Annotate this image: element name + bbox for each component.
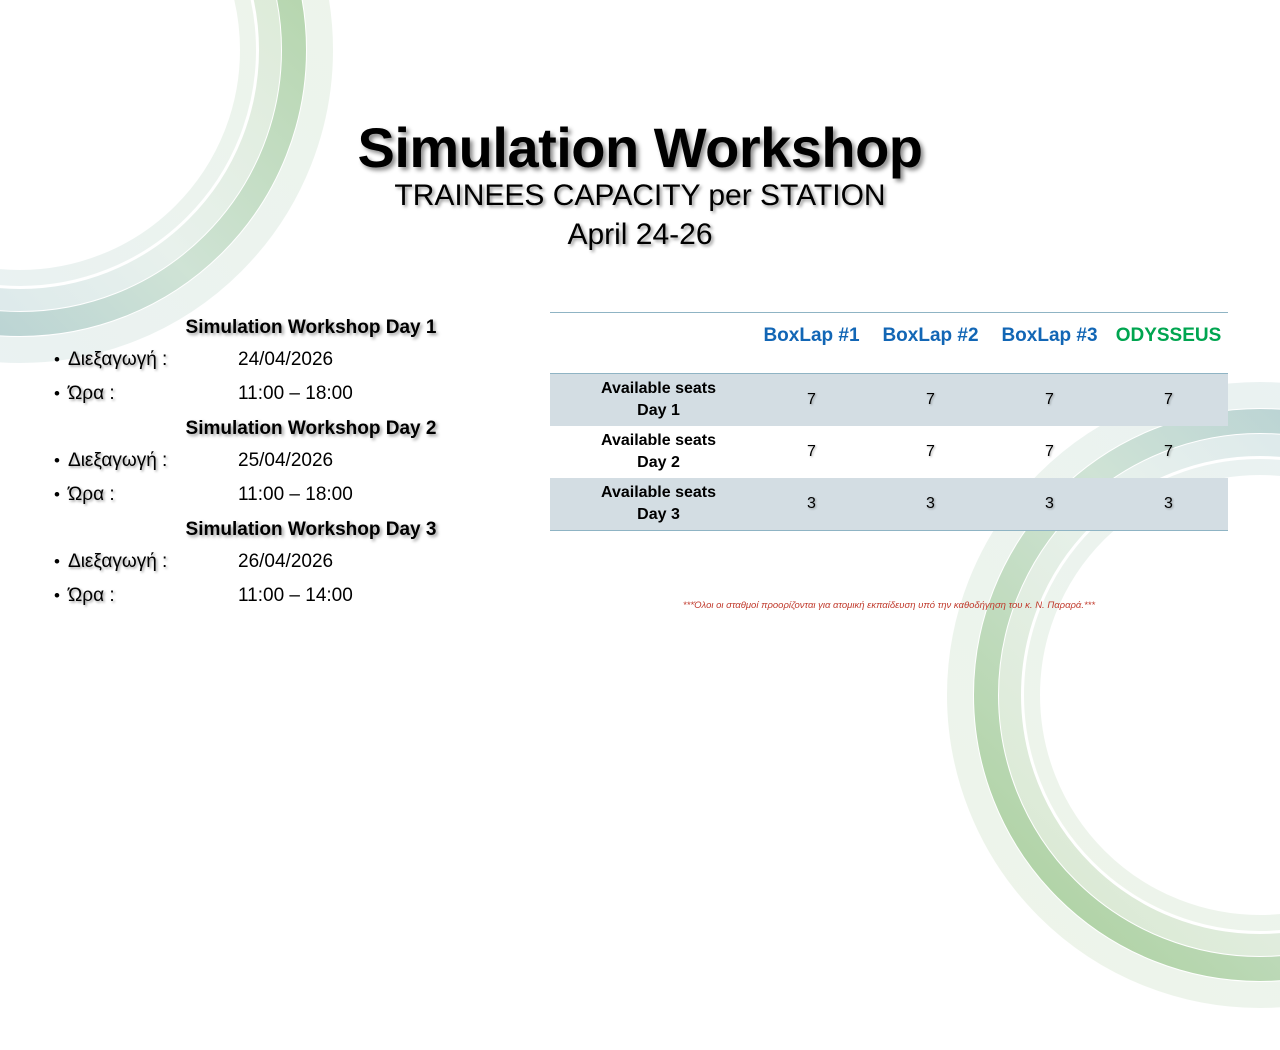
title-block: Simulation Workshop TRAINEES CAPACITY pe… — [0, 118, 1280, 254]
cell-day-3-boxlap-1: 3 — [752, 478, 871, 531]
row-label-day-3-line2: Day 3 — [566, 504, 751, 526]
cell-day-3-boxlap-3: 3 — [990, 478, 1109, 531]
day-group-2: Simulation Workshop Day 2 • Διεξαγωγή : … — [46, 413, 516, 512]
bullet-icon: • — [46, 446, 68, 476]
page-subtitle-line-2: April 24-26 — [0, 216, 1280, 254]
cell-day-3-odysseus: 3 — [1109, 478, 1228, 531]
schedule-value: 24/04/2026 — [238, 343, 516, 377]
table-row: Available seatsDay 1 7 7 7 7 — [550, 374, 1228, 427]
row-label-day-2: Available seatsDay 2 — [550, 426, 752, 478]
row-label-day-1-line2: Day 1 — [566, 400, 751, 422]
schedule-value: 25/04/2026 — [238, 444, 516, 478]
row-label-day-2-line1: Available seats — [601, 432, 716, 449]
schedule-label: Διεξαγωγή : — [68, 545, 238, 579]
row-label-day-3: Available seatsDay 3 — [550, 478, 752, 531]
table-header-row: BoxLap #1 BoxLap #2 BoxLap #3 ODYSSEUS — [550, 313, 1228, 374]
bullet-icon: • — [46, 547, 68, 577]
cell-day-3-boxlap-2: 3 — [871, 478, 990, 531]
column-header-boxlap-3: BoxLap #3 — [990, 313, 1109, 374]
schedule-value: 11:00 – 18:00 — [238, 377, 516, 411]
bullet-icon: • — [46, 379, 68, 409]
day-heading-3: Simulation Workshop Day 3 — [46, 514, 516, 545]
list-item: • Διεξαγωγή : 26/04/2026 — [46, 545, 516, 579]
day-heading-1-emph: Simulation — [186, 317, 283, 338]
list-item: • Ώρα : 11:00 – 14:00 — [46, 579, 516, 613]
day-heading-2: Simulation Workshop Day 2 — [46, 413, 516, 444]
day-group-1: Simulation Workshop Day 1 • Διεξαγωγή : … — [46, 312, 516, 411]
schedule-value: 26/04/2026 — [238, 545, 516, 579]
column-header-boxlap-1: BoxLap #1 — [752, 313, 871, 374]
schedule-label: Διεξαγωγή : — [68, 444, 238, 478]
cell-day-1-odysseus: 7 — [1109, 374, 1228, 427]
table-body: Available seatsDay 1 7 7 7 7 Available s… — [550, 374, 1228, 531]
page-title: Simulation Workshop — [0, 118, 1280, 177]
cell-day-1-boxlap-3: 7 — [990, 374, 1109, 427]
capacity-table: BoxLap #1 BoxLap #2 BoxLap #3 ODYSSEUS A… — [550, 312, 1228, 531]
table-corner-cell — [550, 313, 752, 374]
bullet-icon: • — [46, 480, 68, 510]
capacity-table-wrapper: BoxLap #1 BoxLap #2 BoxLap #3 ODYSSEUS A… — [550, 312, 1228, 531]
cell-day-2-boxlap-2: 7 — [871, 426, 990, 478]
day-heading-3-emph: Simulation — [186, 519, 283, 540]
row-label-day-1: Available seatsDay 1 — [550, 374, 752, 427]
cell-day-2-boxlap-1: 7 — [752, 426, 871, 478]
day-heading-2-emph: Simulation — [186, 418, 283, 439]
schedule-value: 11:00 – 18:00 — [238, 478, 516, 512]
list-item: • Διεξαγωγή : 24/04/2026 — [46, 343, 516, 377]
day-heading-1: Simulation Workshop Day 1 — [46, 312, 516, 343]
row-label-day-3-line1: Available seats — [601, 484, 716, 501]
list-item: • Ώρα : 11:00 – 18:00 — [46, 377, 516, 411]
list-item: • Ώρα : 11:00 – 18:00 — [46, 478, 516, 512]
schedule-label: Ώρα : — [68, 377, 238, 411]
schedule-list: Simulation Workshop Day 1 • Διεξαγωγή : … — [46, 312, 516, 615]
cell-day-1-boxlap-2: 7 — [871, 374, 990, 427]
table-row: Available seatsDay 2 7 7 7 7 — [550, 426, 1228, 478]
schedule-label: Ώρα : — [68, 579, 238, 613]
bullet-icon: • — [46, 581, 68, 611]
column-header-odysseus: ODYSSEUS — [1109, 313, 1228, 374]
cell-day-1-boxlap-1: 7 — [752, 374, 871, 427]
schedule-value: 11:00 – 14:00 — [238, 579, 516, 613]
day-heading-2-rest: Workshop Day 2 — [283, 418, 437, 439]
footnote-text: ***Όλοι οι σταθμοί προορίζονται για ατομ… — [550, 600, 1228, 611]
day-group-3: Simulation Workshop Day 3 • Διεξαγωγή : … — [46, 514, 516, 613]
cell-day-2-odysseus: 7 — [1109, 426, 1228, 478]
day-heading-1-rest: Workshop Day 1 — [283, 317, 437, 338]
table-header: BoxLap #1 BoxLap #2 BoxLap #3 ODYSSEUS — [550, 313, 1228, 374]
column-header-boxlap-2: BoxLap #2 — [871, 313, 990, 374]
page-subtitle-line-1: TRAINEES CAPACITY per STATION — [0, 177, 1280, 215]
schedule-label: Διεξαγωγή : — [68, 343, 238, 377]
row-label-day-1-line1: Available seats — [601, 380, 716, 397]
bullet-icon: • — [46, 345, 68, 375]
cell-day-2-boxlap-3: 7 — [990, 426, 1109, 478]
table-row: Available seatsDay 3 3 3 3 3 — [550, 478, 1228, 531]
day-heading-3-rest: Workshop Day 3 — [283, 519, 437, 540]
row-label-day-2-line2: Day 2 — [566, 452, 751, 474]
schedule-label: Ώρα : — [68, 478, 238, 512]
list-item: • Διεξαγωγή : 25/04/2026 — [46, 444, 516, 478]
